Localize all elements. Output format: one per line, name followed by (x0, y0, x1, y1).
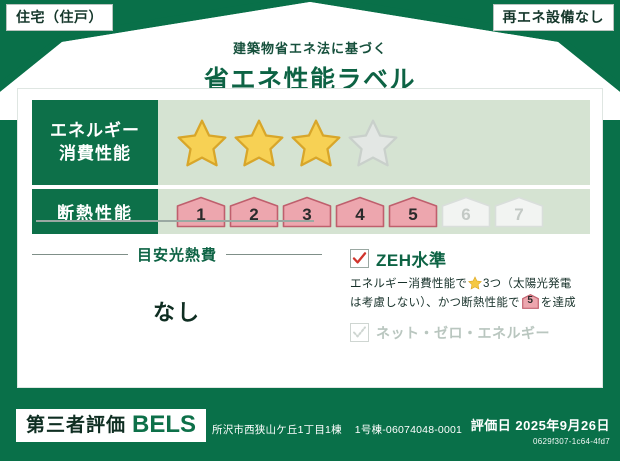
evaluation-hash: 0629f307-1c64-4fd7 (471, 437, 610, 446)
house-chip-icon (229, 196, 279, 228)
insulation-performance-row: 断熱性能 1234567 (32, 189, 590, 234)
net-zero-energy-label: ネット・ゼロ・エネルギー (376, 323, 550, 343)
zeh-description: エネルギー消費性能で3つ（太陽光発電は考慮しない）、かつ断熱性能で5を達成 (350, 276, 590, 313)
house-chip-icon (176, 196, 226, 228)
property-address: 所沢市西狭山ケ丘1丁目1棟1号棟-06074048-0001 (212, 422, 462, 437)
house-chip-icon (282, 196, 332, 228)
rule-right (226, 254, 322, 255)
zeh-desc-level-value: 5 (522, 296, 539, 306)
utility-cost-block: 目安光熱費 なし (32, 244, 322, 327)
insulation-performance-label: 断熱性能 (32, 189, 158, 234)
star-icon-empty (347, 118, 399, 168)
house-chip-icon (441, 196, 491, 228)
bels-logo-text: BELS (132, 413, 196, 437)
zeh-block: ZEH水準 エネルギー消費性能で3つ（太陽光発電は考慮しない）、かつ断熱性能で5… (350, 246, 590, 343)
evaluation-date: 評価日 2025年9月26日 (471, 415, 610, 434)
house-chip-icon (388, 196, 438, 228)
renewable-equipment-tag: 再エネ設備なし (493, 4, 615, 31)
net-zero-energy-checkbox[interactable] (350, 323, 369, 342)
insulation-chip-filled: 5 (388, 196, 438, 228)
energy-label-line1: エネルギー (50, 120, 140, 142)
insulation-chip-filled: 4 (335, 196, 385, 228)
label-panel: エネルギー 消費性能 断熱性能 1234567 目安光熱費 なし (17, 88, 603, 388)
star-icon (468, 276, 482, 290)
star-icon-filled (290, 118, 342, 168)
utility-cost-underline (36, 220, 314, 222)
house-chip-icon (494, 196, 544, 228)
insulation-chip-empty: 6 (441, 196, 491, 228)
insulation-chip-filled: 1 (176, 196, 226, 228)
star-icon-filled (176, 118, 228, 168)
zeh-header: ZEH水準 (350, 246, 590, 271)
bels-energy-label: 住宅（住戸） 再エネ設備なし 建築物省エネ法に基づく 省エネ性能ラベル エネルギ… (0, 0, 620, 461)
zeh-desc-part4: を達成 (541, 297, 576, 309)
insulation-chip-filled: 3 (282, 196, 332, 228)
energy-label-line2: 消費性能 (59, 143, 131, 165)
energy-performance-label: エネルギー 消費性能 (32, 100, 158, 185)
building-number: 1号棟-06074048-0001 (355, 424, 462, 436)
insulation-chip-filled: 2 (229, 196, 279, 228)
check-icon-faded (352, 325, 367, 340)
insulation-chip-empty: 7 (494, 196, 544, 228)
insulation-level-scale: 1234567 (158, 189, 590, 234)
title-subtitle: 建築物省エネ法に基づく (0, 38, 620, 57)
zeh-desc-part2: 3つ（太陽光発電 (483, 278, 572, 290)
evaluation-info: 評価日 2025年9月26日 0629f307-1c64-4fd7 (471, 415, 610, 446)
zeh-desc-part3: は考慮しない）、かつ断熱性能で (350, 297, 520, 309)
zeh-title: ZEH水準 (376, 246, 447, 271)
energy-performance-row: エネルギー 消費性能 (32, 100, 590, 185)
utility-cost-value: なし (32, 295, 322, 327)
zeh-desc-level-chip: 5 (522, 294, 539, 309)
address-text: 所沢市西狭山ケ丘1丁目1棟 (212, 424, 342, 436)
net-zero-energy-row: ネット・ゼロ・エネルギー (350, 323, 590, 343)
check-icon (352, 251, 367, 266)
zeh-checkbox[interactable] (350, 249, 369, 268)
utility-cost-title-text: 目安光熱費 (137, 244, 217, 265)
house-chip-icon (335, 196, 385, 228)
footer-bar: 第三者評価 BELS 所沢市西狭山ケ丘1丁目1棟1号棟-06074048-000… (0, 400, 620, 461)
zeh-desc-part1: エネルギー消費性能で (350, 278, 467, 290)
utility-cost-title: 目安光熱費 (32, 244, 322, 265)
dwelling-type-tag: 住宅（住戸） (6, 4, 113, 31)
bels-badge: 第三者評価 BELS (16, 409, 206, 442)
energy-star-rating (158, 100, 590, 185)
star-icon-filled (233, 118, 285, 168)
rule-left (32, 254, 128, 255)
bels-japanese-label: 第三者評価 (26, 416, 126, 435)
